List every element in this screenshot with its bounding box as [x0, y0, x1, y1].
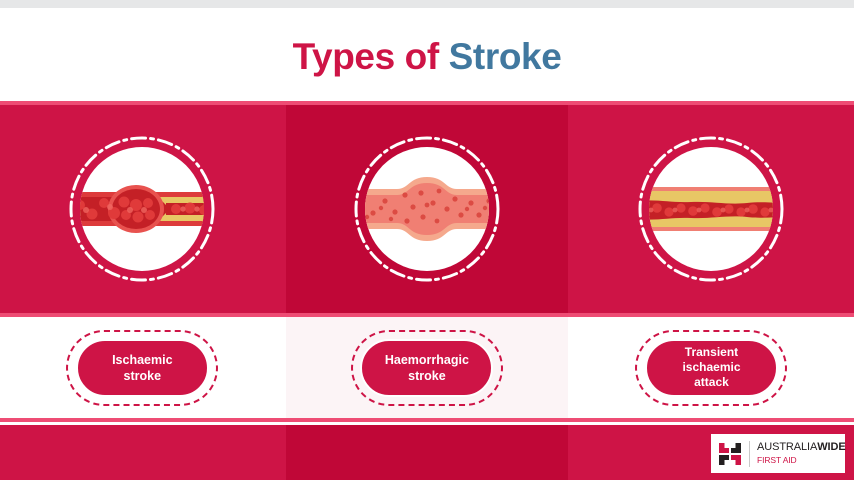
logo-text-australia: AUSTRALIA	[757, 441, 817, 453]
illustration-cell-haemorrhagic	[285, 105, 570, 313]
label-cell-ischaemic: Ischaemic stroke	[0, 317, 285, 418]
label-cell-tia: Transient ischaemic attack	[569, 317, 854, 418]
brand-logo: AUSTRALIAWIDE FIRST AID	[711, 434, 845, 473]
top-grey-strip	[0, 0, 854, 8]
label-pill-haemorrhagic[interactable]: Haemorrhagic stroke	[351, 330, 503, 406]
australia-wide-cross-icon	[717, 441, 743, 467]
label-pill-tia[interactable]: Transient ischaemic attack	[635, 330, 787, 406]
illustration-row	[0, 105, 854, 313]
logo-wordmark: AUSTRALIAWIDE FIRST AID	[757, 442, 846, 465]
logo-text-wide: WIDE	[817, 441, 845, 453]
bulging-vessel-aneurysm-icon	[351, 133, 503, 285]
title-area: Types of Stroke	[0, 8, 854, 105]
label-pill-ischaemic[interactable]: Ischaemic stroke	[66, 330, 218, 406]
logo-line-firstaid: FIRST AID	[757, 456, 846, 465]
pill-label-tia: Transient ischaemic attack	[645, 339, 778, 397]
page-title: Types of Stroke	[293, 36, 562, 78]
narrowed-vessel-plaque-icon	[635, 133, 787, 285]
divider-rule-bottom	[0, 418, 854, 422]
illustration-cell-ischaemic	[0, 105, 285, 313]
logo-line-australiawide: AUSTRALIAWIDE	[757, 442, 846, 453]
blocked-vessel-clot-icon	[66, 133, 218, 285]
logo-divider	[749, 441, 750, 467]
illustration-cell-tia	[569, 105, 854, 313]
label-row: Ischaemic stroke Haemorrhagic stroke Tra…	[0, 317, 854, 418]
title-part-blue: Stroke	[449, 36, 562, 77]
footer-column-middle	[286, 425, 568, 480]
pill-label-ischaemic: Ischaemic stroke	[76, 339, 209, 397]
label-cell-haemorrhagic: Haemorrhagic stroke	[285, 317, 570, 418]
title-part-red: Types of	[293, 36, 449, 77]
slide-canvas: Types of Stroke	[0, 0, 854, 480]
pill-label-haemorrhagic: Haemorrhagic stroke	[360, 339, 493, 397]
footer-column-left	[0, 425, 286, 480]
